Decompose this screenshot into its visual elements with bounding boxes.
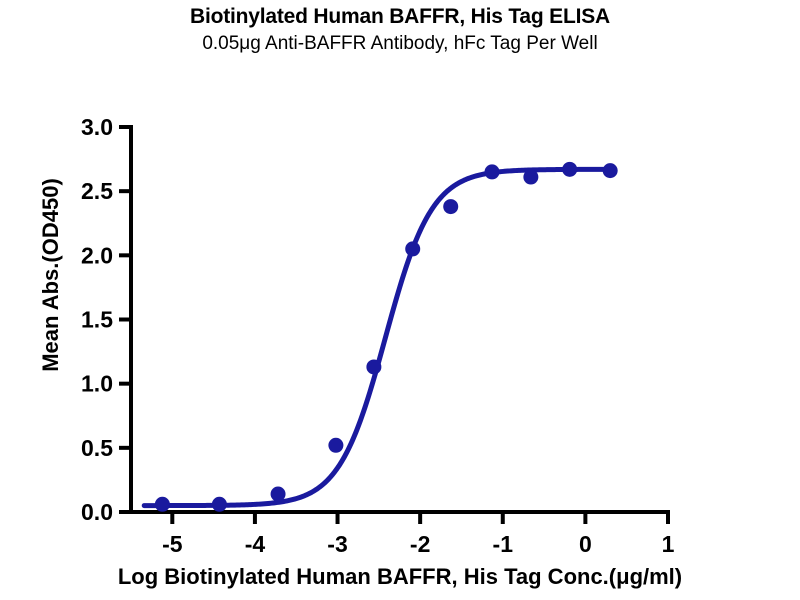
data-point xyxy=(155,497,170,512)
data-point xyxy=(366,359,381,374)
y-tick-label: 1.0 xyxy=(81,371,113,397)
data-point xyxy=(443,199,458,214)
data-point xyxy=(603,163,618,178)
y-tick-label: 3.0 xyxy=(81,114,113,140)
y-tick-label: 0.5 xyxy=(81,435,113,461)
plot-area: 0.00.51.01.52.02.53.0 -5-4-3-2-101 xyxy=(0,0,800,600)
data-point xyxy=(271,487,286,502)
x-tick-label: 1 xyxy=(662,531,675,557)
data-point xyxy=(562,162,577,177)
x-tick-label: -1 xyxy=(493,531,514,557)
x-tick-label: -3 xyxy=(327,531,347,557)
x-tick-group: -5-4-3-2-101 xyxy=(162,512,675,557)
y-tick-label: 2.5 xyxy=(81,178,113,204)
x-tick-label: -5 xyxy=(162,531,183,557)
x-tick-label: 0 xyxy=(579,531,592,557)
data-point xyxy=(523,170,538,185)
x-tick-label: -2 xyxy=(410,531,430,557)
data-point xyxy=(405,241,420,256)
fit-curve xyxy=(144,169,614,505)
x-tick-label: -4 xyxy=(245,531,266,557)
y-tick-group: 0.00.51.01.52.02.53.0 xyxy=(81,114,131,525)
data-point xyxy=(328,438,343,453)
data-point xyxy=(485,164,500,179)
x-axis-label: Log Biotinylated Human BAFFR, His Tag Co… xyxy=(0,562,800,592)
data-point xyxy=(212,497,227,512)
y-tick-label: 2.0 xyxy=(81,242,113,268)
y-tick-label: 0.0 xyxy=(81,499,113,525)
elisa-chart-figure: Biotinylated Human BAFFR, His Tag ELISA … xyxy=(0,0,800,600)
y-tick-label: 1.5 xyxy=(81,307,113,333)
